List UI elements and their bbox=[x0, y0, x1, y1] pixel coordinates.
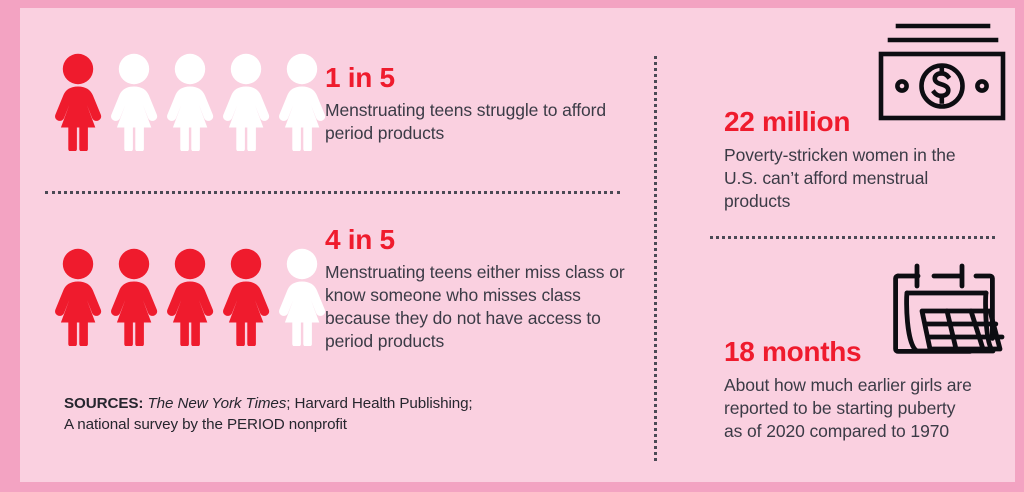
female-figure-icon bbox=[108, 248, 160, 346]
sources-note: SOURCES: The New York Times; Harvard Hea… bbox=[64, 394, 484, 436]
female-figure-icon bbox=[220, 53, 272, 151]
stat-one-in-five-headline: 1 in 5 bbox=[325, 64, 625, 92]
female-figure-icon bbox=[164, 248, 216, 346]
stat-22-million-text: 22 million Poverty-stricken women in the… bbox=[724, 108, 974, 213]
female-figure-icon bbox=[276, 248, 328, 346]
right-column: 22 million Poverty-stricken women in the… bbox=[672, 8, 1024, 482]
female-figure-icon bbox=[164, 53, 216, 151]
infographic-canvas: 1 in 5 Menstruating teens struggle to af… bbox=[20, 8, 1015, 482]
stat-22-million-body: Poverty-stricken women in the U.S. can’t… bbox=[724, 144, 974, 213]
left-column: 1 in 5 Menstruating teens struggle to af… bbox=[20, 8, 640, 482]
column-divider bbox=[654, 56, 657, 461]
stat-four-in-five-body: Menstruating teens either miss class or … bbox=[325, 261, 625, 353]
stat-one-in-five-body: Menstruating teens struggle to afford pe… bbox=[325, 99, 625, 145]
stat-four-in-five-headline: 4 in 5 bbox=[325, 226, 625, 254]
stat-one-in-five-text: 1 in 5 Menstruating teens struggle to af… bbox=[325, 64, 625, 145]
female-figure-icon bbox=[52, 248, 104, 346]
infographic-root: 1 in 5 Menstruating teens struggle to af… bbox=[0, 0, 1024, 492]
stat-four-in-five-text: 4 in 5 Menstruating teens either miss cl… bbox=[325, 226, 625, 353]
stat-18-months-text: 18 months About how much earlier girls a… bbox=[724, 338, 974, 443]
right-divider bbox=[710, 236, 995, 239]
female-figure-icon bbox=[108, 53, 160, 151]
stat-22-million-headline: 22 million bbox=[724, 108, 974, 136]
stat-18-months-body: About how much earlier girls are reporte… bbox=[724, 374, 974, 443]
female-figure-icon bbox=[220, 248, 272, 346]
sources-label: SOURCES: bbox=[64, 395, 143, 412]
sources-italic-source: The New York Times bbox=[148, 395, 287, 412]
female-figure-icon bbox=[52, 53, 104, 151]
female-figure-icon bbox=[276, 53, 328, 151]
pictogram-one-in-five bbox=[52, 53, 328, 151]
pictogram-four-in-five bbox=[52, 248, 328, 346]
stat-18-months-headline: 18 months bbox=[724, 338, 974, 366]
left-divider bbox=[45, 191, 620, 194]
